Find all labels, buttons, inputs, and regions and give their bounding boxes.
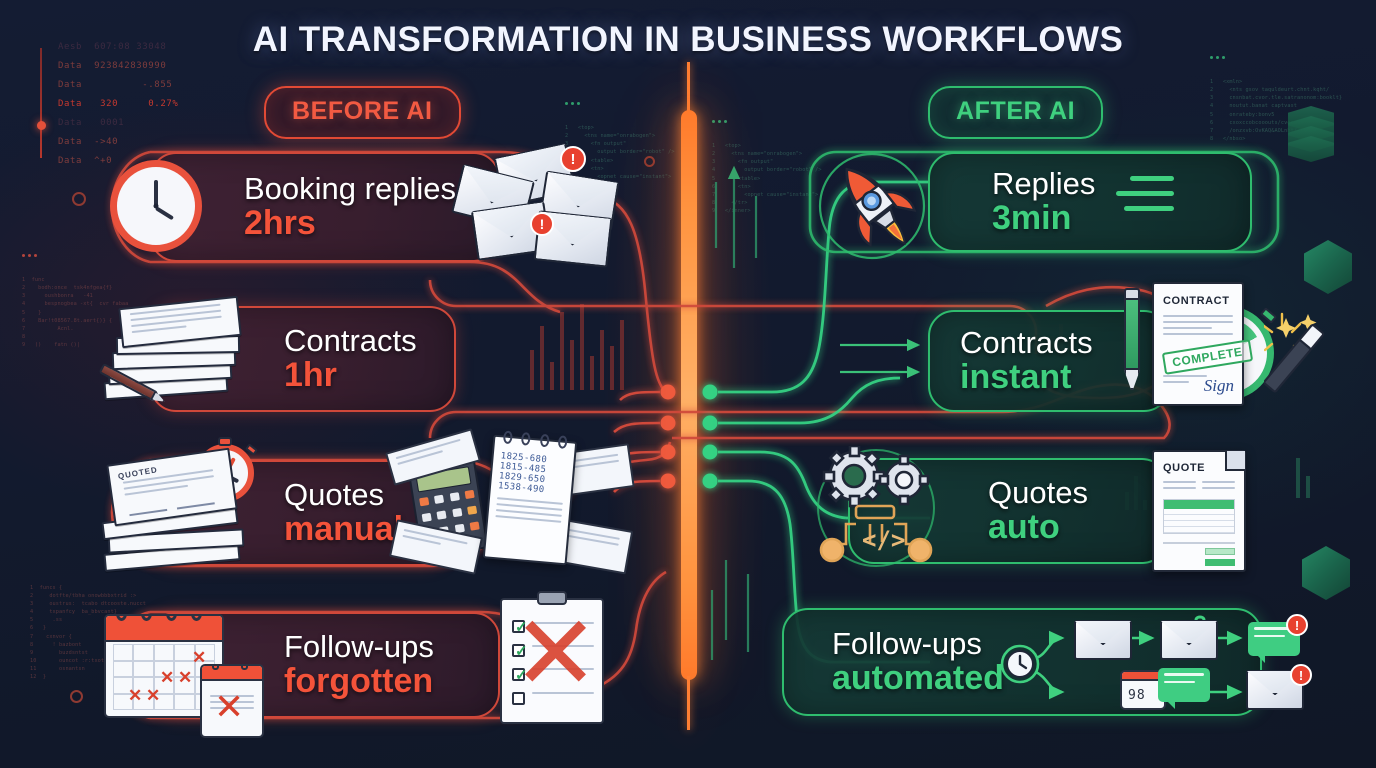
sparkline-decoration <box>1296 452 1310 498</box>
alert-badge-icon: ! <box>1290 664 1312 686</box>
clipboard-crossed-icon: ✓ ✓ ✓ ✕ <box>500 598 604 724</box>
alert-badge-icon: ! <box>560 146 586 172</box>
quote-paper-stack-icon: QUOTED <box>96 452 296 582</box>
svg-text:</>: </> <box>862 526 905 554</box>
divider-tail-bottom <box>687 676 690 730</box>
alert-badge-icon: ! <box>1286 614 1308 636</box>
code-text: 1 <xmln> 2 <nts gsov taquldeurt.chnt.kqh… <box>1210 78 1342 143</box>
gears-icon: </> <box>812 446 940 572</box>
alert-badge-icon: ! <box>530 212 554 236</box>
complete-stamp: COMPLETE <box>1162 339 1253 375</box>
code-snippet-center: 1 <top> 2 <tns name="onrabogen"> 3 <fn o… <box>712 104 822 231</box>
code-window-dots-icon <box>565 102 675 105</box>
hex-cube-decoration <box>1302 546 1350 600</box>
before-row-card: Booking replies 2hrs <box>150 152 500 262</box>
pen-green-icon <box>1124 288 1144 394</box>
quote-table <box>1163 499 1235 534</box>
after-row-value: 3min <box>992 200 1226 237</box>
magic-wand-icon <box>1264 292 1340 400</box>
center-divider <box>681 110 697 680</box>
contract-title: CONTRACT <box>1163 295 1233 307</box>
quote-document-icon: QUOTE <box>1152 450 1246 572</box>
after-row-card: Replies 3min <box>928 152 1252 252</box>
before-row-label: Contracts <box>284 324 430 357</box>
chat-bubble-icon <box>1158 668 1210 702</box>
badge-before-ai: BEFORE AI <box>264 86 461 139</box>
before-row-label: Follow-ups <box>284 630 474 663</box>
hex-cube-decoration <box>1304 240 1352 294</box>
badge-after-ai: AFTER AI <box>928 86 1103 139</box>
data-row: Data ->40 <box>58 133 178 152</box>
code-window-dots-icon <box>712 120 822 123</box>
before-row-value: forgotten <box>284 663 474 700</box>
analytics-bars-decoration <box>530 300 624 390</box>
after-row-label: Contracts <box>960 326 1144 359</box>
envelope-pile-icon: ! ! <box>456 150 646 270</box>
hex-stack-decoration <box>1288 106 1334 162</box>
before-row-value: 2hrs <box>244 205 474 242</box>
calendar-x-icon: ✕ <box>200 664 264 738</box>
signature-icon: Sign <box>1204 376 1234 396</box>
before-row-value: 1hr <box>284 357 430 394</box>
after-row-label: Replies <box>992 167 1226 200</box>
envelope-icon <box>1160 620 1218 660</box>
page-title: AI TRANSFORMATION IN BUSINESS WORKFLOWS <box>0 20 1376 60</box>
after-row-value: auto <box>988 509 1142 546</box>
infographic-canvas: Aesb 607:08 33048 Data 923842830990 Data… <box>0 0 1376 768</box>
before-row-label: Booking replies <box>244 172 474 205</box>
contract-document-icon: CONTRACT COMPLETE Sign <box>1152 282 1244 406</box>
speed-lines-icon <box>1112 176 1182 232</box>
code-window-dots-icon <box>22 254 128 257</box>
ring-decoration <box>70 690 83 703</box>
wall-clock-icon <box>110 160 202 252</box>
automation-flow-icon: ! 98 ! <box>1000 614 1276 712</box>
rocket-icon <box>816 150 934 260</box>
after-row-value: instant <box>960 359 1144 396</box>
ring-decoration <box>72 192 86 206</box>
code-text: 1 <top> 2 <tns name="onrabogen"> 3 <fn o… <box>712 142 822 215</box>
data-row: Data 320 0.27% <box>58 95 178 114</box>
data-rail-decoration <box>40 48 42 158</box>
divider-tail-top <box>687 62 690 114</box>
after-row-label: Quotes <box>988 476 1142 509</box>
data-row: Data 0001 <box>58 114 178 133</box>
data-row: Data -.855 <box>58 76 178 95</box>
notepad-icon: 1825-680 1815-485 1829-650 1538-490 <box>483 435 577 566</box>
envelope-icon <box>1074 620 1132 660</box>
